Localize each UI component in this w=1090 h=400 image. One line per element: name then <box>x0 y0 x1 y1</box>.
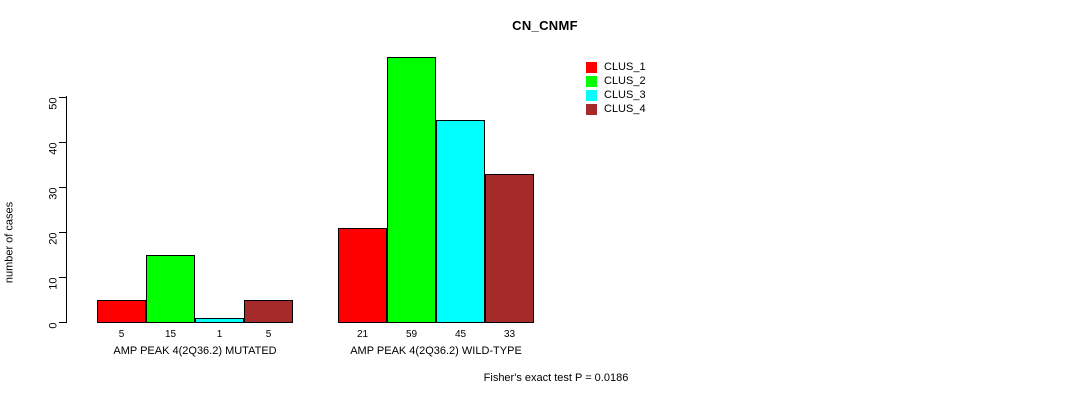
y-axis-title: number of cases <box>5 178 16 308</box>
bar-amp-peak-4-2q36-2-wild-type-clus_2[interactable] <box>387 57 436 324</box>
bar-value-label: 59 <box>387 330 436 340</box>
bar-value-label: 45 <box>436 330 485 340</box>
footnote-text: Fisher's exact test P = 0.0186 <box>484 372 629 384</box>
legend: CLUS_1CLUS_2CLUS_3CLUS_4 <box>586 60 646 116</box>
legend-swatch-icon <box>586 104 597 115</box>
y-axis-tick-label: 30 <box>49 188 60 228</box>
y-axis-line <box>66 96 67 323</box>
bar-amp-peak-4-2q36-2-mutated-clus_3[interactable] <box>195 318 244 324</box>
x-axis-group-label: AMP PEAK 4(2Q36.2) WILD-TYPE <box>338 346 534 357</box>
legend-item-label: CLUS_2 <box>604 76 646 87</box>
bar-value-label: 15 <box>146 330 195 340</box>
y-axis-tick-label: 10 <box>49 278 60 318</box>
y-axis-tick-label: 50 <box>49 98 60 138</box>
legend-item-label: CLUS_1 <box>604 62 646 73</box>
bar-value-label: 5 <box>97 330 146 340</box>
legend-item-label: CLUS_3 <box>604 90 646 101</box>
y-axis-tick <box>59 322 66 323</box>
y-axis-tick-label: 40 <box>49 143 60 183</box>
legend-item-clus_3[interactable]: CLUS_3 <box>586 88 646 102</box>
legend-item-clus_1[interactable]: CLUS_1 <box>586 60 646 74</box>
bar-value-label: 5 <box>244 330 293 340</box>
bar-amp-peak-4-2q36-2-wild-type-clus_1[interactable] <box>338 228 387 324</box>
y-axis-tick <box>59 277 66 278</box>
chart-title: CN_CNMF <box>0 18 1090 33</box>
y-axis-tick <box>59 187 66 188</box>
y-axis-tick <box>59 97 66 98</box>
bar-amp-peak-4-2q36-2-wild-type-clus_3[interactable] <box>436 120 485 324</box>
bar-value-label: 21 <box>338 330 387 340</box>
legend-swatch-icon <box>586 76 597 87</box>
legend-swatch-icon <box>586 90 597 101</box>
x-axis-group-label: AMP PEAK 4(2Q36.2) MUTATED <box>97 346 293 357</box>
legend-swatch-icon <box>586 62 597 73</box>
y-axis-tick <box>59 142 66 143</box>
footnote: Fisher's exact test P = 0.0186 <box>0 372 1090 384</box>
bar-amp-peak-4-2q36-2-wild-type-clus_4[interactable] <box>485 174 534 324</box>
legend-item-clus_4[interactable]: CLUS_4 <box>586 102 646 116</box>
y-axis-tick-label: 20 <box>49 233 60 273</box>
legend-item-clus_2[interactable]: CLUS_2 <box>586 74 646 88</box>
bar-amp-peak-4-2q36-2-mutated-clus_1[interactable] <box>97 300 146 324</box>
y-axis-tick <box>59 232 66 233</box>
bar-amp-peak-4-2q36-2-mutated-clus_4[interactable] <box>244 300 293 324</box>
legend-item-label: CLUS_4 <box>604 104 646 115</box>
y-axis-tick-label: 0 <box>49 323 60 363</box>
bar-amp-peak-4-2q36-2-mutated-clus_2[interactable] <box>146 255 195 324</box>
bar-chart-plot: CN_CNMF 01020304050 number of cases 5151… <box>0 0 1090 400</box>
bar-value-label: 33 <box>485 330 534 340</box>
bar-value-label: 1 <box>195 330 244 340</box>
